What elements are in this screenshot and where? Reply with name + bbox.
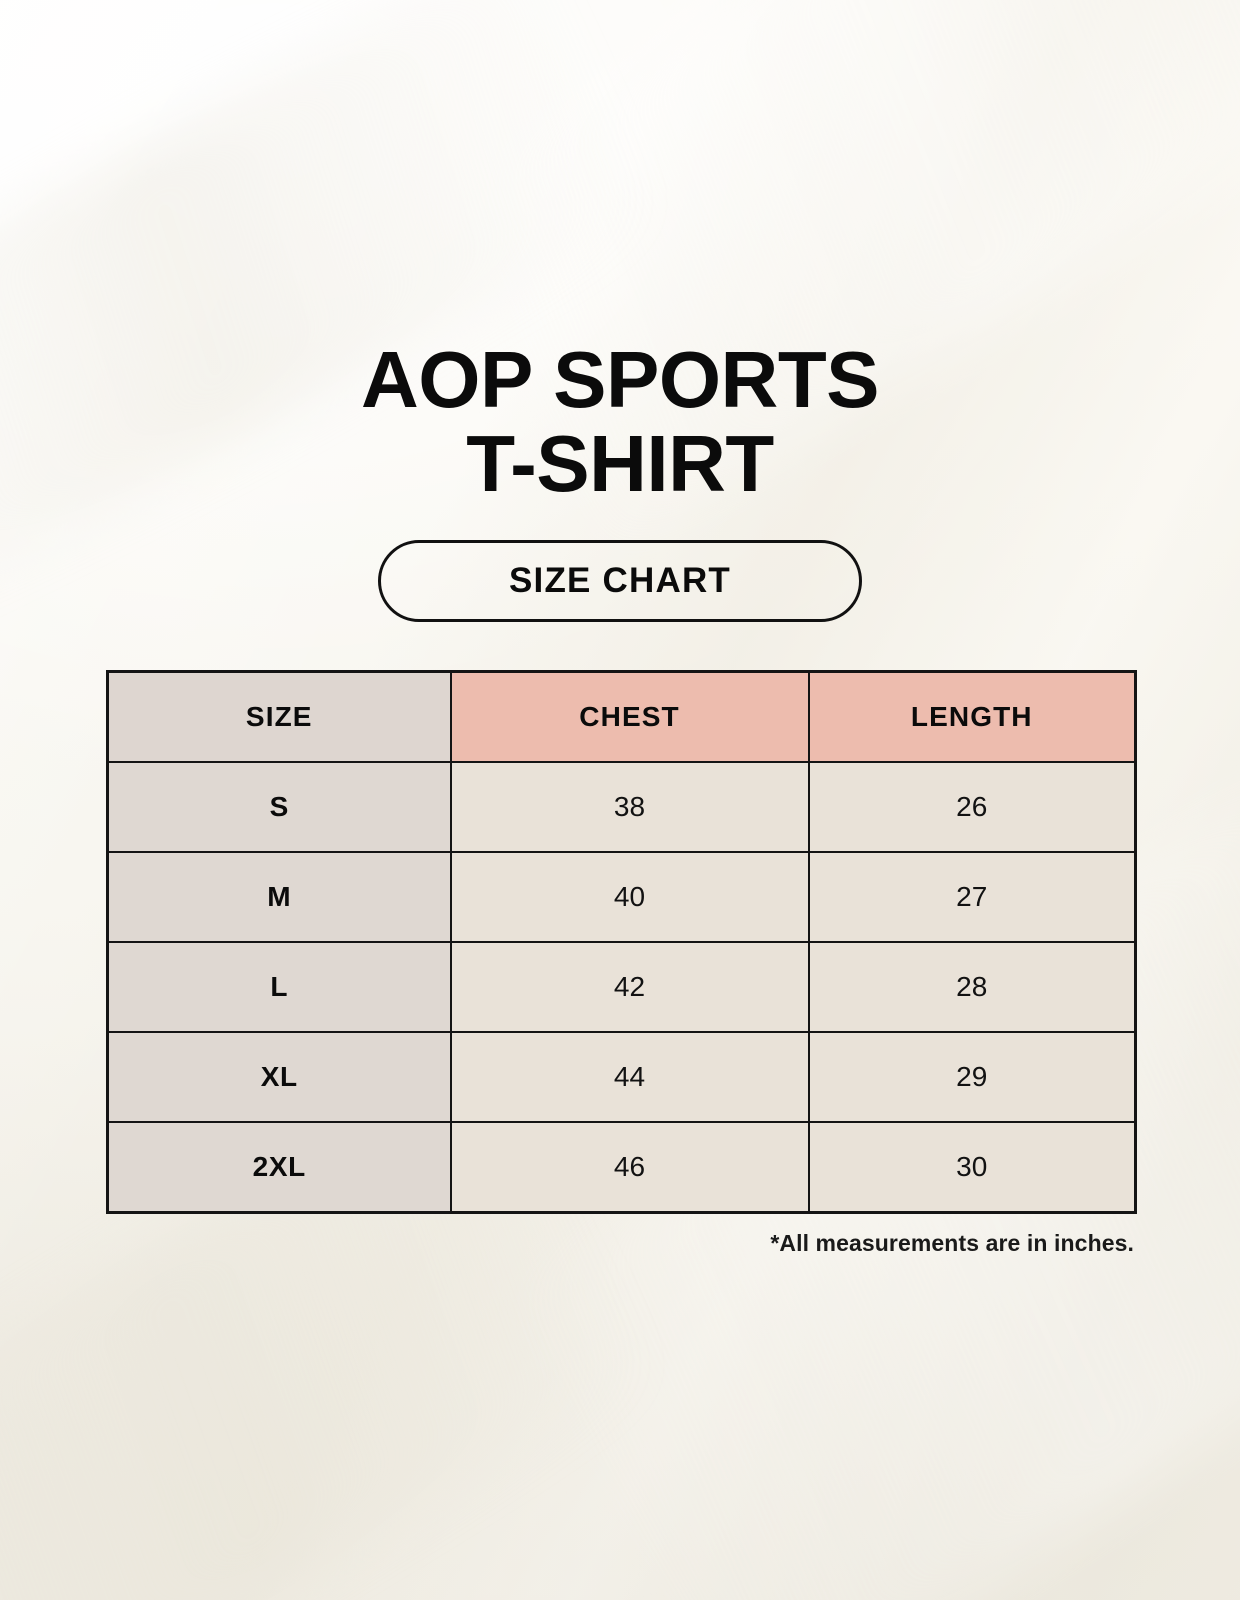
cell-chest-value: 38 [614,791,645,822]
cell-length-value: 29 [956,1061,987,1092]
cell-chest-value: 40 [614,881,645,912]
table-header-row: SIZE CHEST LENGTH [108,672,1136,763]
cell-size: XL [108,1032,451,1122]
size-chart-badge-label: SIZE CHART [509,561,731,601]
cell-length-value: 26 [956,791,987,822]
cell-chest-value: 46 [614,1151,645,1182]
cell-size: L [108,942,451,1032]
table-row: L 42 28 [108,942,1136,1032]
cell-length: 28 [809,942,1136,1032]
cell-size-value: L [270,971,288,1002]
cell-chest: 44 [451,1032,809,1122]
cell-chest: 42 [451,942,809,1032]
cell-chest-value: 42 [614,971,645,1002]
cell-size: M [108,852,451,942]
cell-size-value: XL [261,1061,298,1092]
size-chart-pill-wrapper: SIZE CHART [0,540,1240,622]
column-header-chest-label: CHEST [579,701,679,732]
title-line-secondary: T-SHIRT [0,422,1240,506]
column-header-size: SIZE [108,672,451,763]
cell-length-value: 27 [956,881,987,912]
table-row: 2XL 46 30 [108,1122,1136,1213]
table-row: M 40 27 [108,852,1136,942]
cell-size-value: M [267,881,291,912]
size-table: SIZE CHEST LENGTH S [106,670,1137,1214]
cell-chest: 46 [451,1122,809,1213]
cell-length-value: 28 [956,971,987,1002]
cell-chest: 40 [451,852,809,942]
column-header-length-label: LENGTH [911,701,1033,732]
table-row: XL 44 29 [108,1032,1136,1122]
cell-length: 30 [809,1122,1136,1213]
size-chart-page: AOP SPORTS T-SHIRT SIZE CHART SIZE [0,0,1240,1600]
size-chart-badge: SIZE CHART [378,540,862,622]
cell-size: S [108,762,451,852]
table-body: S 38 26 M 40 [108,762,1136,1213]
cell-size-value: S [270,791,289,822]
title-line-primary: AOP SPORTS [0,338,1240,422]
table-row: S 38 26 [108,762,1136,852]
cell-length-value: 30 [956,1151,987,1182]
content-container: AOP SPORTS T-SHIRT SIZE CHART SIZE [0,0,1240,1257]
cell-chest: 38 [451,762,809,852]
column-header-size-label: SIZE [246,701,313,732]
cell-length: 26 [809,762,1136,852]
table-header: SIZE CHEST LENGTH [108,672,1136,763]
page-title: AOP SPORTS T-SHIRT [0,0,1240,506]
column-header-chest: CHEST [451,672,809,763]
cell-size: 2XL [108,1122,451,1213]
cell-chest-value: 44 [614,1061,645,1092]
size-table-wrapper: SIZE CHEST LENGTH S [106,670,1134,1214]
cell-size-value: 2XL [253,1151,306,1182]
measurements-footnote: *All measurements are in inches. [106,1230,1134,1257]
cell-length: 27 [809,852,1136,942]
cell-length: 29 [809,1032,1136,1122]
column-header-length: LENGTH [809,672,1136,763]
